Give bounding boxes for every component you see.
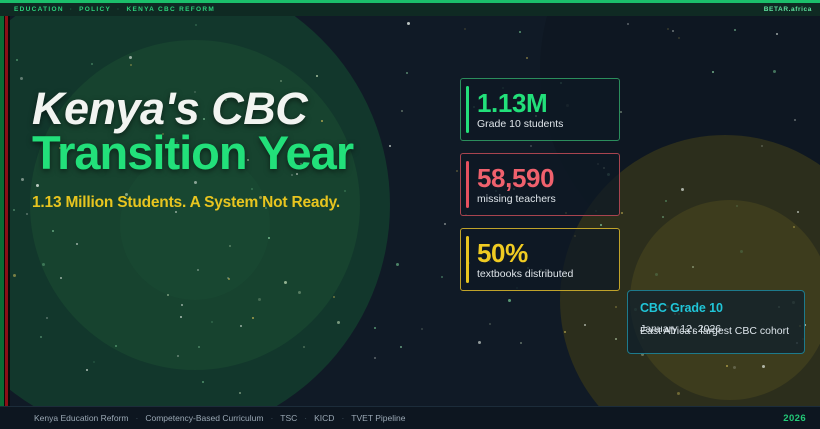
breadcrumb-item-education[interactable]: EDUCATION: [14, 6, 64, 13]
footer-tag-list: Kenya Education Reform · Competency-Base…: [34, 413, 405, 423]
footer-bar: Kenya Education Reform · Competency-Base…: [0, 406, 820, 429]
stat-card: 58,590 missing teachers: [460, 153, 620, 216]
breadcrumb-item-kenya-cbc-reform[interactable]: KENYA CBC REFORM: [126, 6, 215, 13]
stat-accent-bar: [466, 236, 469, 283]
footer-tag-tsc: TSC: [280, 413, 297, 423]
headline-block: Kenya's CBC Transition Year 1.13 Million…: [32, 86, 462, 212]
breadcrumb-separator: ·: [70, 7, 73, 13]
brand-label: BETAR.africa: [764, 6, 812, 13]
stat-value: 1.13M: [477, 90, 609, 117]
footer-year: 2026: [783, 413, 806, 424]
stat-card-list: 1.13M Grade 10 students 58,590 missing t…: [460, 78, 620, 291]
footer-tag-tvet-pipeline: TVET Pipeline: [351, 413, 405, 423]
footer-separator: ·: [304, 413, 307, 423]
info-box-text-stack: East Africa's largest CBC cohort January…: [640, 323, 792, 339]
stat-label: Grade 10 students: [477, 118, 609, 130]
headline-subtitle: 1.13 Million Students. A System Not Read…: [32, 194, 462, 212]
footer-tag-kicd: KICD: [314, 413, 334, 423]
stat-accent-bar: [466, 161, 469, 208]
footer-separator: ·: [270, 413, 273, 423]
stat-label: textbooks distributed: [477, 268, 609, 280]
info-box-title: CBC Grade 10: [640, 301, 792, 315]
footer-separator: ·: [136, 413, 139, 423]
main-content: Kenya's CBC Transition Year 1.13 Million…: [0, 16, 820, 406]
stat-label: missing teachers: [477, 193, 609, 205]
cohort-info-box: CBC Grade 10 East Africa's largest CBC c…: [627, 290, 805, 354]
stat-value: 58,590: [477, 165, 609, 192]
headline-line-1: Kenya's CBC: [32, 86, 462, 131]
breadcrumb-separator: ·: [117, 7, 120, 13]
stat-value: 50%: [477, 240, 609, 267]
breadcrumb-item-policy[interactable]: POLICY: [79, 6, 111, 13]
top-bar: EDUCATION · POLICY · KENYA CBC REFORM BE…: [0, 3, 820, 16]
footer-tag-competency-based-curriculum: Competency-Based Curriculum: [145, 413, 263, 423]
breadcrumb: EDUCATION · POLICY · KENYA CBC REFORM: [14, 6, 215, 13]
footer-tag-kenya-education-reform: Kenya Education Reform: [34, 413, 129, 423]
info-box-date: January 12, 2026: [640, 323, 721, 335]
footer-separator: ·: [341, 413, 344, 423]
stat-card: 1.13M Grade 10 students: [460, 78, 620, 141]
stat-accent-bar: [466, 86, 469, 133]
headline-line-2: Transition Year: [32, 129, 462, 177]
stat-card: 50% textbooks distributed: [460, 228, 620, 291]
infographic-canvas: EDUCATION · POLICY · KENYA CBC REFORM BE…: [0, 0, 820, 429]
